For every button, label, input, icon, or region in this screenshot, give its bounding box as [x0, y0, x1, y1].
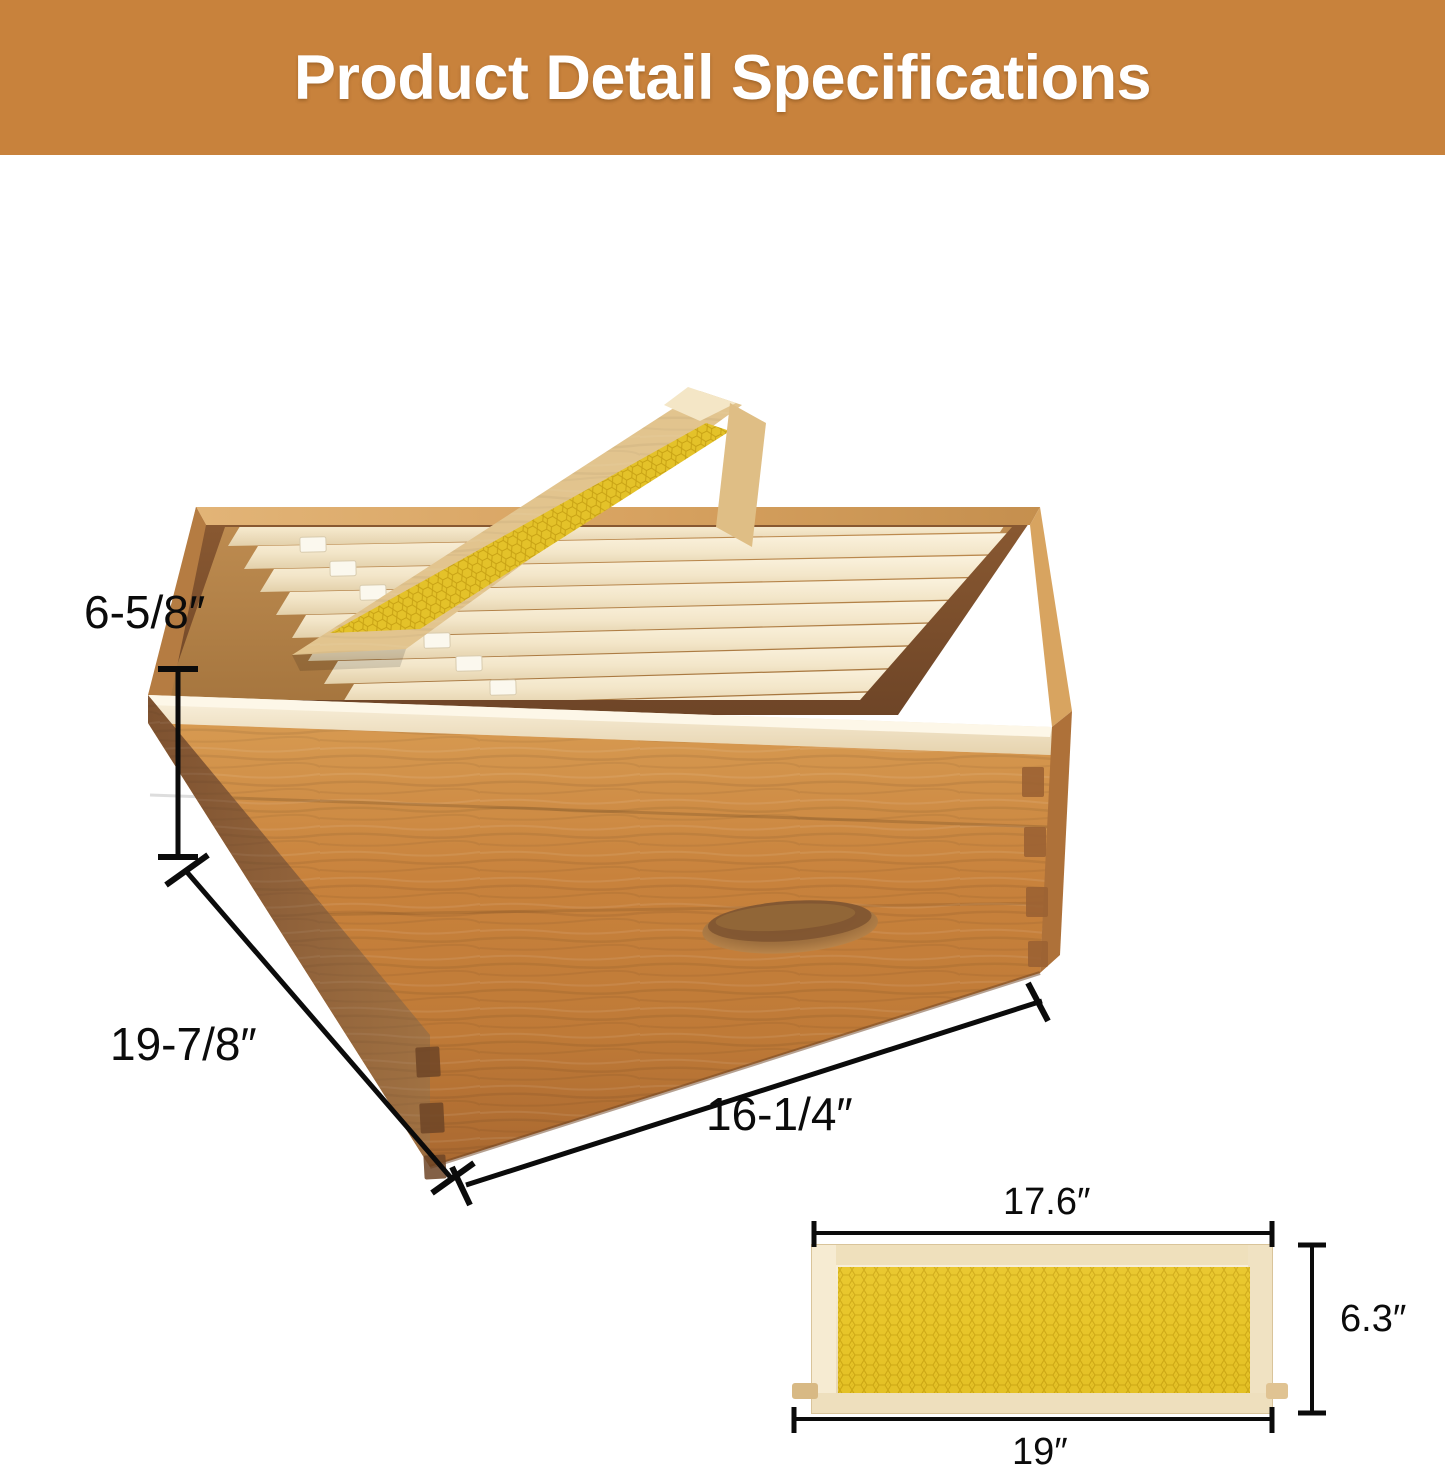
dimension-label-frame-height: 6.3″	[1340, 1298, 1406, 1341]
header-banner: Product Detail Specifications	[0, 0, 1445, 155]
dimension-frame-height	[1298, 1245, 1326, 1413]
box-rim-back	[196, 507, 1040, 525]
frame-ear-left	[792, 1383, 818, 1399]
hive-box-illustration	[148, 507, 1080, 1180]
product-illustration	[0, 155, 1445, 1445]
dimension-label-box-height: 6-5/8″	[84, 585, 205, 639]
flat-frame-illustration	[792, 1245, 1288, 1413]
dimension-label-frame-width: 19″	[1012, 1431, 1068, 1474]
box-rim-right	[1030, 507, 1072, 727]
flat-frame-top-bar	[812, 1245, 1272, 1265]
specification-diagram: 6-5/8″ 19-7/8″ 16-1/4″ 17.6″ 6.3″ 19″	[0, 155, 1445, 1445]
dimension-label-box-width: 16-1/4″	[706, 1087, 853, 1141]
frame-ear-right	[1266, 1383, 1288, 1399]
page-title: Product Detail Specifications	[294, 42, 1151, 114]
dimension-label-box-depth: 19-7/8″	[110, 1017, 257, 1071]
dimension-label-frame-top-bar: 17.6″	[1003, 1181, 1090, 1224]
flat-frame-bottom-bar	[812, 1393, 1272, 1413]
dimension-frame-top	[814, 1221, 1272, 1247]
